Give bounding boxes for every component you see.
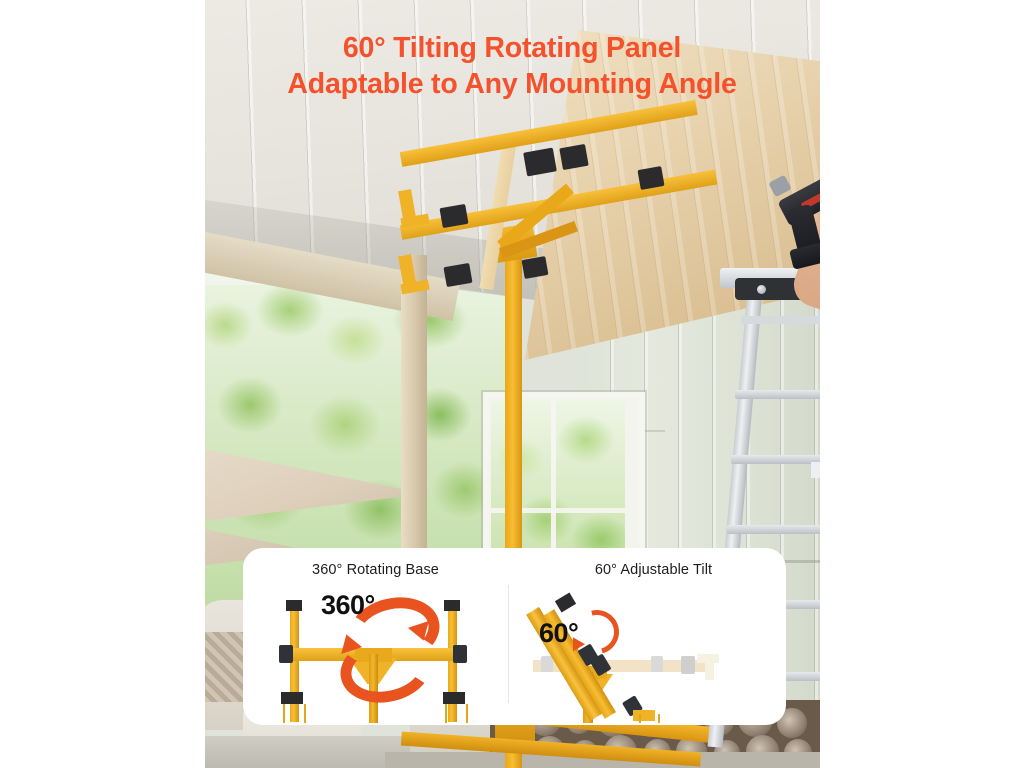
ladder-brace [741, 316, 820, 324]
headline: 60° Tilting Rotating Panel Adaptable to … [0, 30, 1024, 102]
tilt-ghost-hook-arm [705, 654, 714, 680]
diagram-skid-left [283, 704, 306, 723]
feature-panel-rotating-base: 360° Rotating Base 360° [243, 548, 508, 725]
headline-line-2: Adaptable to Any Mounting Angle [0, 66, 1024, 102]
adjustable-tilt-diagram: 60° [521, 588, 786, 723]
headline-line-1: 60° Tilting Rotating Panel [0, 30, 1024, 66]
diagram-clamp-right [453, 645, 467, 663]
diagram-post-cap-left [286, 600, 302, 611]
panel-lift-clamp-4 [523, 148, 557, 177]
diagram-foot-right [443, 692, 465, 704]
tilt-ghost-clamp-1 [541, 656, 553, 672]
feature-title-rotating-base: 360° Rotating Base [243, 562, 508, 578]
porch-post [401, 255, 427, 585]
feature-title-adjustable-tilt: 60° Adjustable Tilt [521, 562, 786, 578]
feature-panel-adjustable-tilt: 60° Adjustable Tilt [521, 548, 786, 725]
tilt-skid [639, 714, 660, 723]
ladder-rung [727, 525, 820, 534]
diagram-post-cap-right [444, 600, 460, 611]
ladder-sticker [811, 462, 820, 478]
callout-60: 60° [539, 618, 578, 649]
ladder-rung [735, 390, 820, 399]
feature-card: 360° Rotating Base 360° [243, 548, 786, 725]
rotating-base-diagram: 360° [243, 588, 508, 723]
panel-lift-clamp-5 [559, 144, 588, 170]
tilt-ghost-clamp-3 [681, 656, 695, 674]
ladder-rung [731, 455, 820, 464]
diagram-skid-right [445, 704, 468, 723]
tilt-ghost-clamp-2 [651, 656, 663, 672]
card-divider [508, 585, 509, 703]
panel-lift-clamp-6 [637, 166, 664, 190]
poster-canvas: 60° Tilting Rotating Panel Adaptable to … [0, 0, 1024, 768]
diagram-clamp-left [279, 645, 293, 663]
callout-360: 360° [321, 590, 375, 621]
diagram-foot-left [281, 692, 303, 704]
tilt-bar-cap [555, 593, 576, 613]
